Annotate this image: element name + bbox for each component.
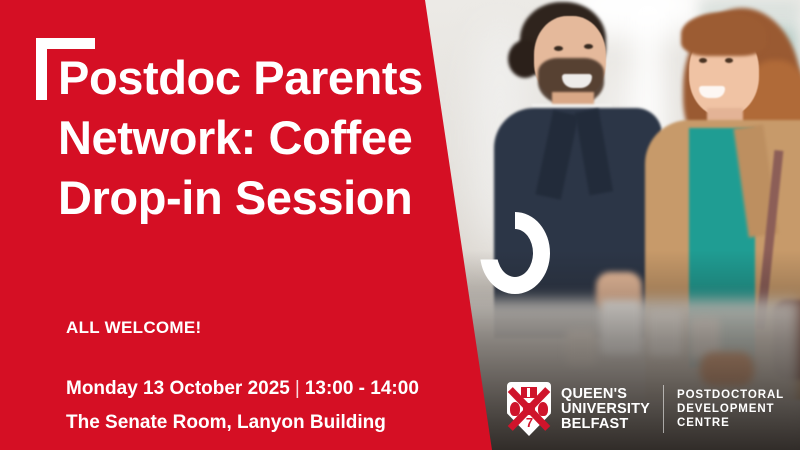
crest-charge-right	[538, 402, 548, 416]
event-venue: The Senate Room, Lanyon Building	[66, 412, 386, 434]
woman-eye-left	[699, 58, 707, 63]
title-line-1: Postdoc Parents	[58, 48, 518, 108]
event-poster: Postdoc Parents Network: Coffee Drop-in …	[0, 0, 800, 450]
woman-eye-right	[725, 58, 733, 63]
datetime-separator: |	[295, 378, 300, 400]
page-title: Postdoc Parents Network: Coffee Drop-in …	[58, 48, 518, 228]
unit-name-line-1: POSTDOCTORAL	[677, 388, 784, 402]
crest-book-icon	[521, 387, 537, 398]
event-datetime: Monday 13 October 2025|13:00 - 14:00	[66, 378, 419, 400]
logo-lockup: 7 QUEEN'S UNIVERSITY BELFAST POSTDOCTORA…	[507, 381, 784, 437]
crest-charge-left	[510, 402, 520, 416]
man-eye-right	[584, 44, 593, 49]
unit-name-line-2: DEVELOPMENT	[677, 402, 784, 416]
unit-name: POSTDOCTORAL DEVELOPMENT CENTRE	[677, 388, 784, 430]
crest-numeral: 7	[524, 417, 535, 429]
woman-smile	[699, 86, 725, 98]
woman-fringe	[681, 12, 767, 56]
all-welcome-callout: ALL WELCOME!	[66, 318, 202, 338]
logo-divider	[663, 385, 664, 433]
queens-crest-icon: 7	[507, 382, 551, 436]
university-name-line-2: UNIVERSITY	[561, 402, 650, 417]
university-name-line-1: QUEEN'S	[561, 387, 650, 402]
university-name: QUEEN'S UNIVERSITY BELFAST	[561, 387, 650, 432]
event-date: Monday 13 October 2025	[66, 378, 290, 399]
title-line-3: Drop-in Session	[58, 168, 518, 228]
crest-harp-icon	[523, 403, 535, 415]
event-time: 13:00 - 14:00	[305, 378, 419, 399]
unit-name-line-3: CENTRE	[677, 416, 784, 430]
swoosh-icon	[480, 212, 550, 294]
title-line-2: Network: Coffee	[58, 108, 518, 168]
man-eye-left	[554, 46, 563, 51]
university-name-line-3: BELFAST	[561, 417, 650, 432]
